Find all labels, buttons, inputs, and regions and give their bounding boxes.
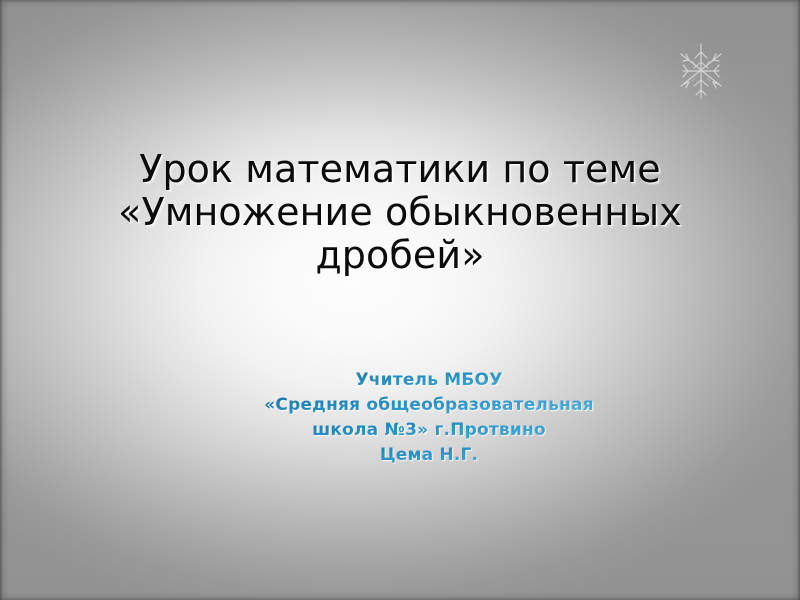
slide-author-block: Учитель МБОУ «Средняя общеобразовательна…	[0, 368, 800, 468]
title-line-2: «Умножение обыкновенных	[40, 191, 760, 234]
title-line-3: дробей»	[40, 234, 760, 277]
author-line-4: Цема Н.Г.	[120, 443, 738, 468]
title-line-1: Урок математики по теме	[40, 148, 760, 191]
author-line-3: школа №3» г.Протвино	[120, 418, 738, 443]
presentation-slide: Урок математики по теме «Умножение обыкн…	[0, 0, 800, 600]
author-line-1: Учитель МБОУ	[120, 368, 738, 393]
author-line-2: «Средняя общеобразовательная	[120, 393, 738, 418]
snowflake-icon	[673, 40, 729, 102]
slide-title: Урок математики по теме «Умножение обыкн…	[0, 148, 800, 277]
